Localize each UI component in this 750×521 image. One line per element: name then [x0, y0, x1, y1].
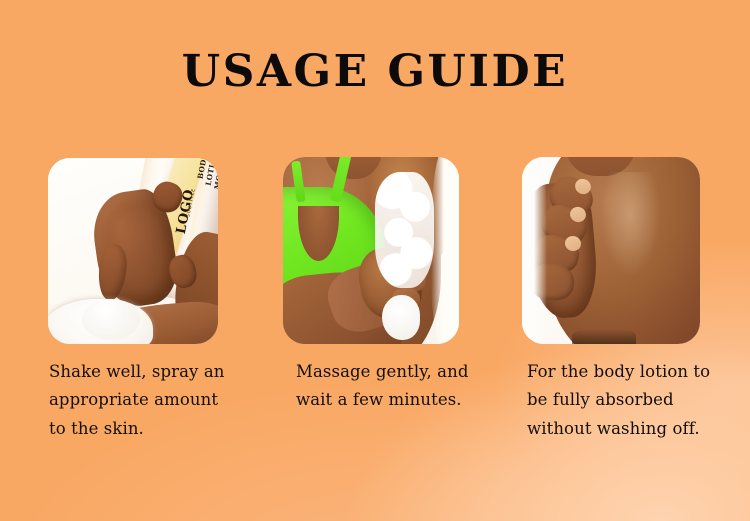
- photo-backdrop-right: [431, 157, 459, 344]
- step-2-caption: Massage gently, and wait a few minutes.: [296, 358, 481, 415]
- step-1-image: BODY LOTION MOUSSE LOGO SUBTITLE: [48, 158, 218, 344]
- tank-top-neckline: [298, 206, 339, 261]
- lotion-foam-highlight: [82, 299, 140, 340]
- step-3-caption: For the body lotion to be fully absorbed…: [527, 358, 722, 443]
- lotion-foam-highlight: [382, 295, 421, 340]
- step-1-caption: Shake well, spray an appropriate amount …: [49, 358, 239, 443]
- photo-backdrop-left: [522, 157, 547, 344]
- page-title: USAGE GUIDE: [0, 50, 750, 94]
- lotion-foam: [375, 172, 435, 288]
- step-2-image: [283, 157, 459, 344]
- photo-shadow-bottom: [572, 329, 636, 344]
- step-3-image: [522, 157, 700, 344]
- skin-highlight: [600, 172, 661, 277]
